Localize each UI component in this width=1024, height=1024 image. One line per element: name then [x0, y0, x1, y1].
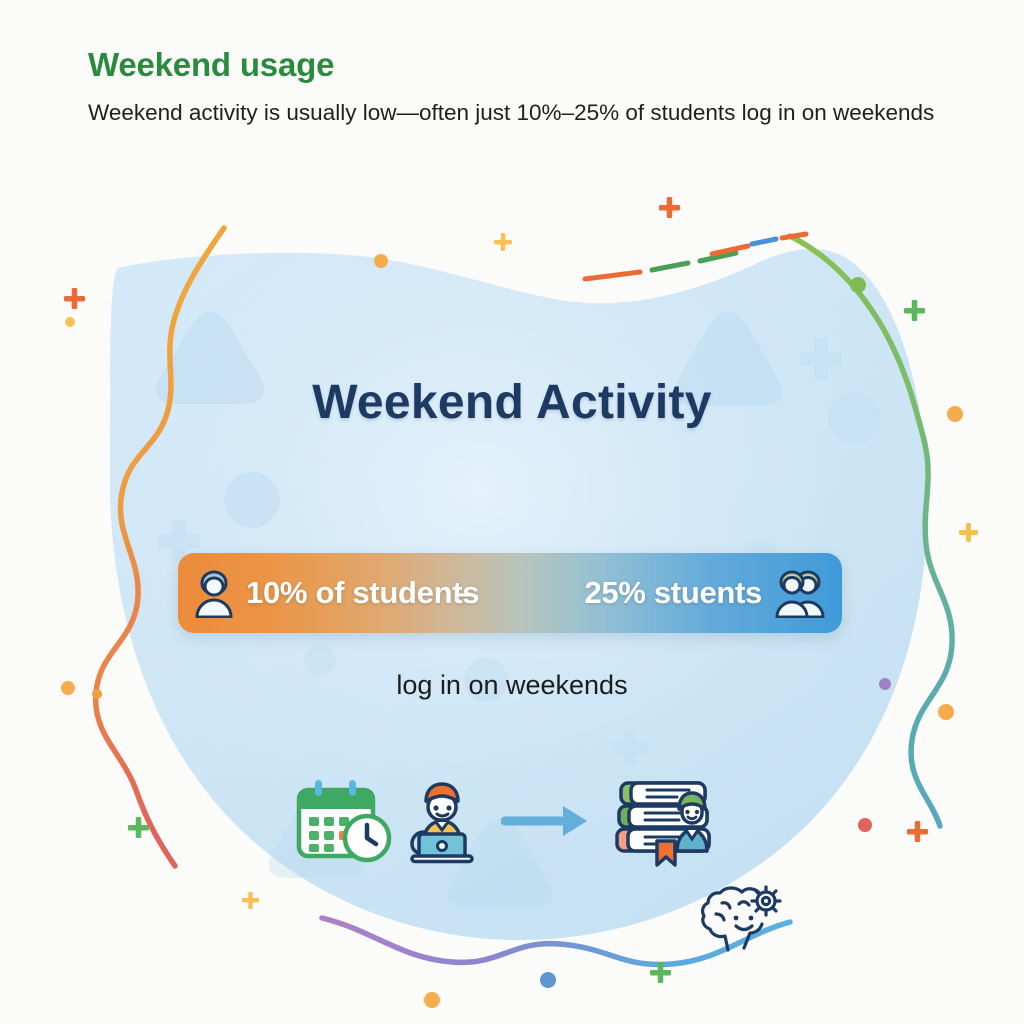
icon-row — [0, 775, 1024, 867]
header-block: Weekend usage Weekend activity is usuall… — [88, 48, 968, 129]
brain-gear-icon — [698, 880, 782, 956]
stat-separator: – — [454, 575, 471, 611]
books-student-icon — [613, 775, 731, 867]
page-title: Weekend usage — [88, 48, 968, 83]
calendar-clock-icon — [293, 778, 397, 864]
page-subtitle: Weekend activity is usually low—often ju… — [88, 97, 958, 129]
two-people-icon — [772, 568, 828, 618]
infographic-canvas: Weekend usage Weekend activity is usuall… — [0, 0, 1024, 1024]
card-caption: log in on weekends — [0, 670, 1024, 701]
student-laptop-icon — [403, 778, 481, 864]
stat-left: 10% of students — [192, 568, 479, 618]
stat-right: 25% stuents — [584, 568, 828, 618]
stat-left-label: 10% of students — [246, 575, 479, 611]
stat-right-label: 25% stuents — [584, 575, 762, 611]
card-title: Weekend Activity — [0, 375, 1024, 430]
arrow-right-icon[interactable] — [501, 799, 593, 843]
single-person-icon — [192, 568, 236, 618]
stat-banner[interactable]: 10% of students – 25% stuents — [178, 553, 842, 633]
blob-content: Weekend Activity 10% of students – 25% s… — [0, 190, 1024, 980]
